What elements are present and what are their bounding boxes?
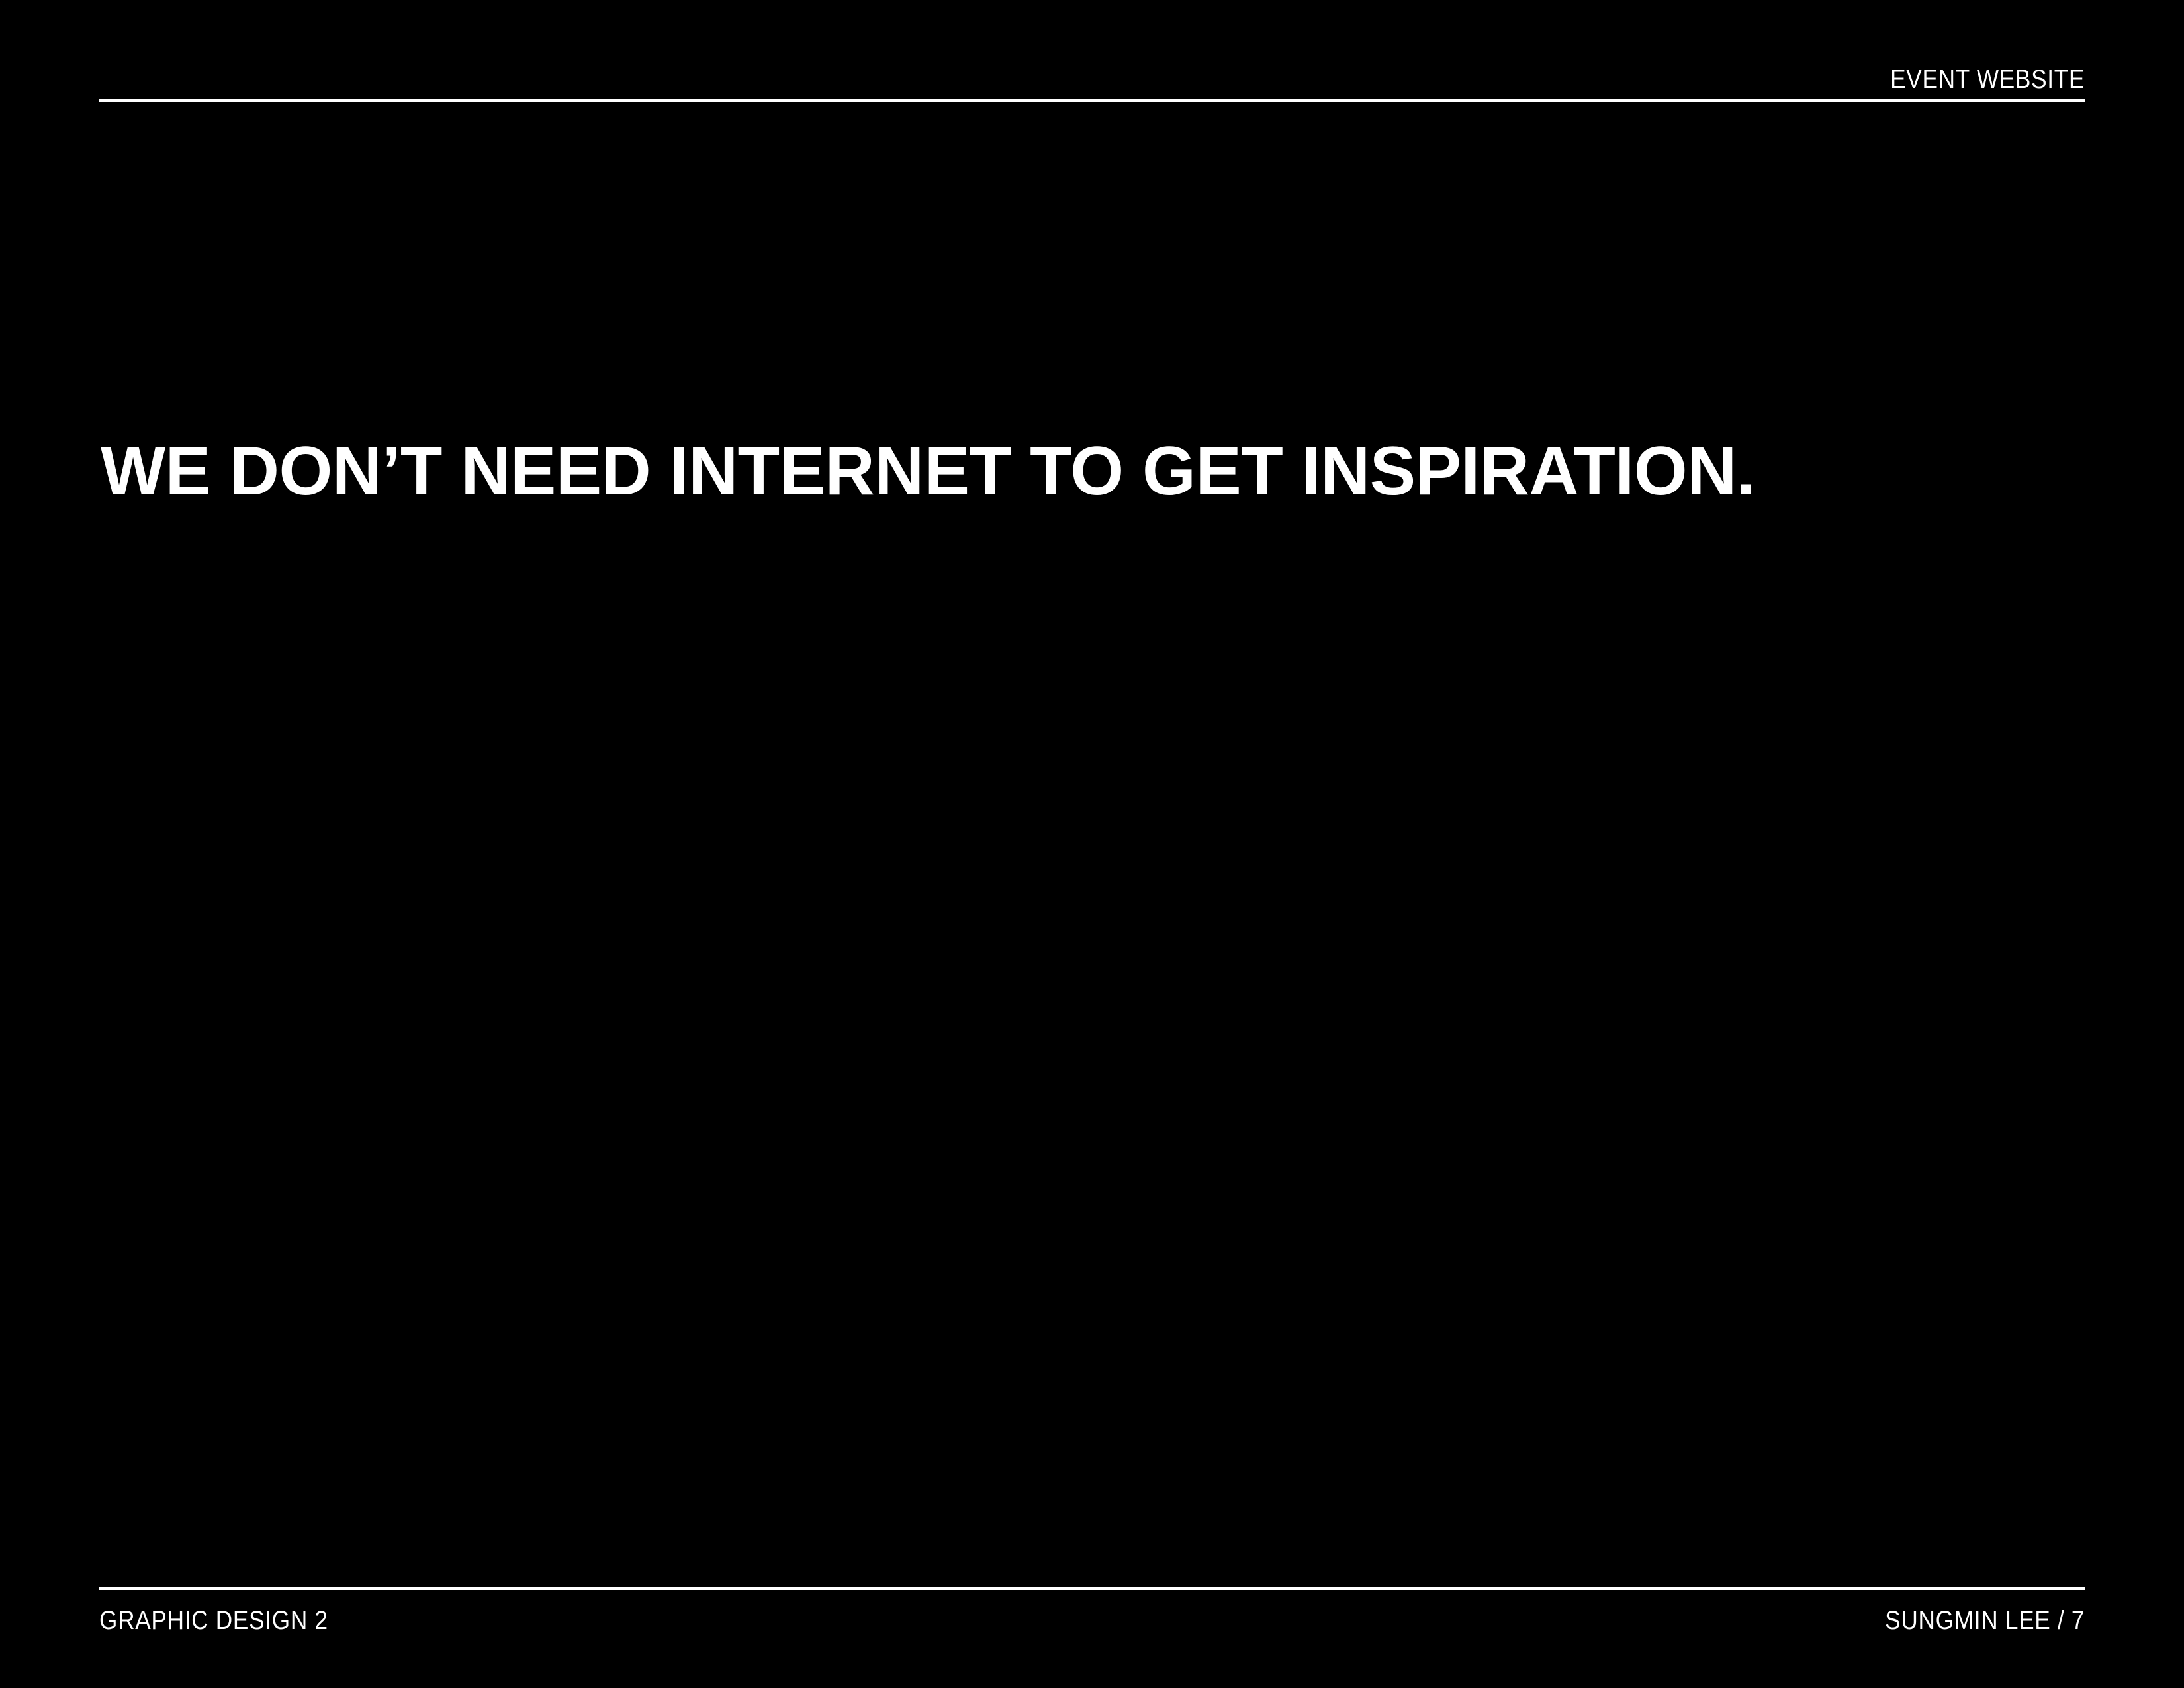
slide-footer: GRAPHIC DESIGN 2 SUNGMIN LEE / 7	[99, 1607, 2085, 1644]
slide-header: EVENT WEBSITE	[99, 57, 2085, 102]
presentation-slide: EVENT WEBSITE WE DON’T NEED INTERNET TO …	[0, 0, 2184, 1688]
footer-author-page-label: SUNGMIN LEE / 7	[1885, 1607, 2085, 1634]
section-label: EVENT WEBSITE	[1890, 66, 2085, 93]
footer-divider-rule	[99, 1587, 2085, 1590]
slide-headline: WE DON’T NEED INTERNET TO GET INSPIRATIO…	[101, 437, 2085, 506]
header-divider-rule	[99, 99, 2085, 102]
headline-container: WE DON’T NEED INTERNET TO GET INSPIRATIO…	[101, 437, 2085, 506]
footer-course-label: GRAPHIC DESIGN 2	[99, 1607, 328, 1634]
